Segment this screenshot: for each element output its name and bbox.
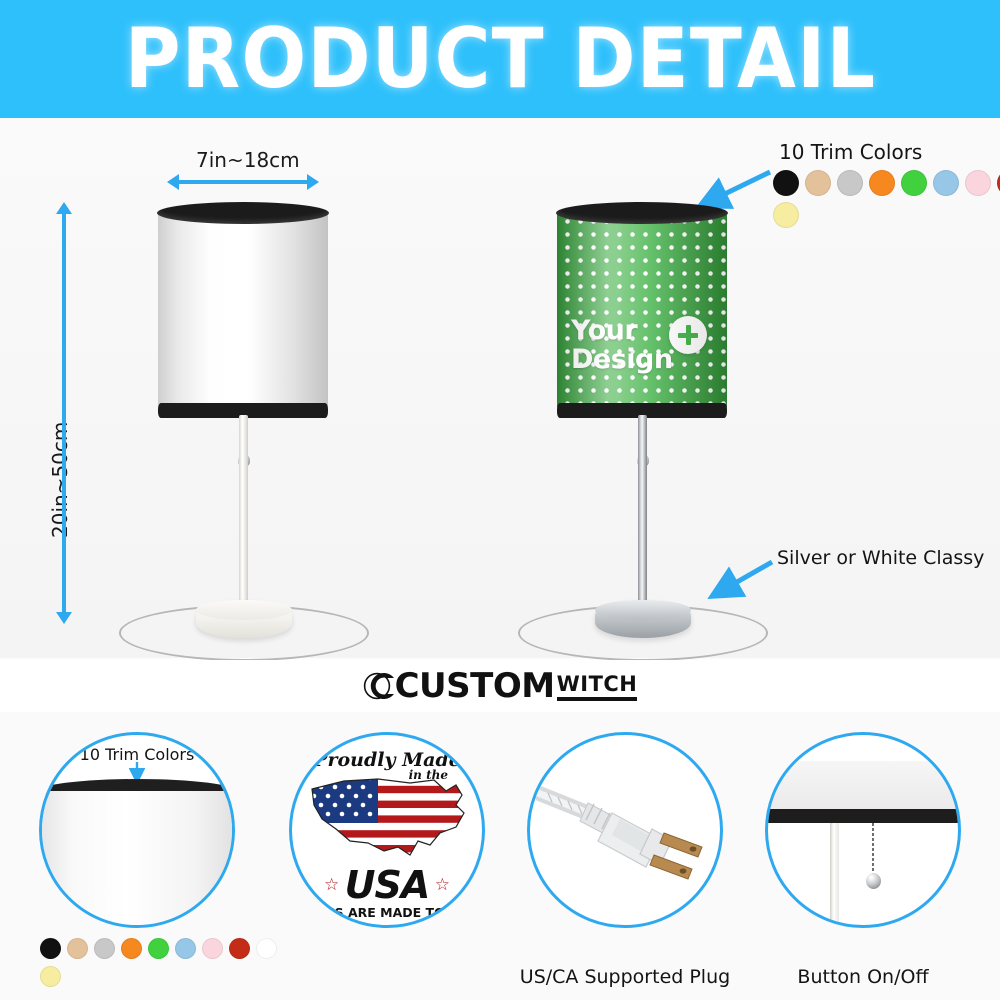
panel-button-on-off: Button On/Off — [738, 720, 988, 1000]
panel-trim-colors-circle: 10 Trim Colors — [39, 732, 235, 928]
lamp-green-base-top — [595, 600, 691, 620]
trim-swatch-red[interactable] — [229, 938, 250, 959]
panel-trim-colors-swatch-row-second[interactable] — [40, 966, 61, 987]
custom-witch-c-icon — [363, 669, 397, 703]
panel-trim-colors-shade — [39, 791, 235, 928]
trim-swatch-gray[interactable] — [94, 938, 115, 959]
lamp-white-base-top — [196, 600, 292, 620]
trim-colors-swatch-row-top[interactable] — [773, 170, 1000, 196]
product-detail-page: PRODUCT DETAIL 10 Trim Colors 7in~18cm 2… — [0, 0, 1000, 1000]
lamp-green-shade-body: Your Design — [557, 210, 727, 410]
panel-trim-colors: 10 Trim Colors — [12, 720, 262, 1000]
your-design-line1: Your — [571, 316, 673, 345]
trim-swatch-pink[interactable] — [202, 938, 223, 959]
panel-button-on-off-caption: Button On/Off — [738, 966, 988, 988]
panel-button-shade — [765, 761, 961, 809]
base-finish-label: Silver or White Classy — [777, 547, 984, 569]
width-dimension-arrow — [178, 180, 308, 184]
page-title: PRODUCT DETAIL — [124, 11, 875, 107]
panel-button-pull-knob[interactable] — [866, 873, 881, 889]
trim-swatch-tan[interactable] — [805, 170, 831, 196]
trim-swatch-pink[interactable] — [965, 170, 991, 196]
trim-swatch-orange[interactable] — [869, 170, 895, 196]
brand-witch-group: WITCH — [557, 673, 638, 701]
panel-plug-caption: US/CA Supported Plug — [500, 966, 750, 988]
lamp-white-shade — [158, 202, 328, 417]
brand-underline — [557, 697, 638, 701]
brand-witch-text: WITCH — [557, 673, 638, 695]
panel-made-in-usa: Proudly Made in the — [262, 720, 512, 1000]
panel-button-pole — [830, 823, 839, 928]
lamp-green-shade: Your Design — [557, 202, 727, 417]
trim-swatch-orange[interactable] — [121, 938, 142, 959]
panel-trim-colors-swatch-row[interactable] — [40, 938, 277, 959]
lamp-white-pole — [239, 415, 248, 619]
lamp-green-pole — [638, 415, 647, 619]
panel-button-trim — [765, 809, 961, 823]
trim-swatch-gray[interactable] — [837, 170, 863, 196]
trim-swatch-green[interactable] — [148, 938, 169, 959]
base-finish-pointer-arrow — [700, 558, 780, 606]
feature-panels: 10 Trim Colors Proudly Made in — [0, 712, 1000, 1000]
brand-custom-text: CUSTOM — [395, 666, 555, 706]
trim-colors-heading: 10 Trim Colors — [779, 140, 922, 164]
lamp-white-base — [196, 600, 292, 638]
plus-circle-icon[interactable] — [669, 316, 707, 354]
power-plug-icon — [536, 773, 723, 893]
polka-dot-pattern — [557, 210, 727, 410]
lamp-green-base — [595, 600, 691, 638]
trim-swatch-light-blue[interactable] — [933, 170, 959, 196]
width-dimension-label: 7in~18cm — [196, 148, 300, 172]
panel-plug: US/CA Supported Plug — [500, 720, 750, 1000]
panel-button-pull-chain[interactable] — [872, 823, 874, 875]
stage-background — [0, 118, 1000, 658]
panel-button-on-off-circle — [765, 732, 961, 928]
trim-swatch-green[interactable] — [901, 170, 927, 196]
main-stage: 10 Trim Colors 7in~18cm 20in~50cm — [0, 118, 1000, 658]
trim-swatch-black[interactable] — [40, 938, 61, 959]
usa-star-left-icon: ☆ — [324, 875, 339, 895]
your-design-line2: Design — [571, 345, 673, 374]
height-dimension-label: 20in~50cm — [48, 422, 72, 538]
panel-plug-circle — [527, 732, 723, 928]
usa-star-right-icon: ☆ — [435, 875, 450, 895]
trim-swatch-yellow[interactable] — [40, 966, 61, 987]
lamp-white-shade-body — [158, 210, 328, 410]
lamp-green-trim-top — [556, 202, 728, 224]
usa-badge-sub-text: ALL ITEMS ARE MADE TO ORDER! — [289, 905, 485, 920]
trim-swatch-light-blue[interactable] — [175, 938, 196, 959]
brand-logo: CUSTOM WITCH — [0, 660, 1000, 712]
header-banner: PRODUCT DETAIL — [0, 0, 1000, 118]
usa-badge-big-text: USA — [345, 863, 430, 907]
panel-made-in-usa-circle: Proudly Made in the — [289, 732, 485, 928]
lamp-white-trim-top — [157, 202, 329, 224]
height-dimension-arrow — [62, 213, 66, 613]
trim-swatch-tan[interactable] — [67, 938, 88, 959]
your-design-text: Your Design — [571, 316, 673, 374]
usa-flag-map-icon — [306, 771, 474, 867]
